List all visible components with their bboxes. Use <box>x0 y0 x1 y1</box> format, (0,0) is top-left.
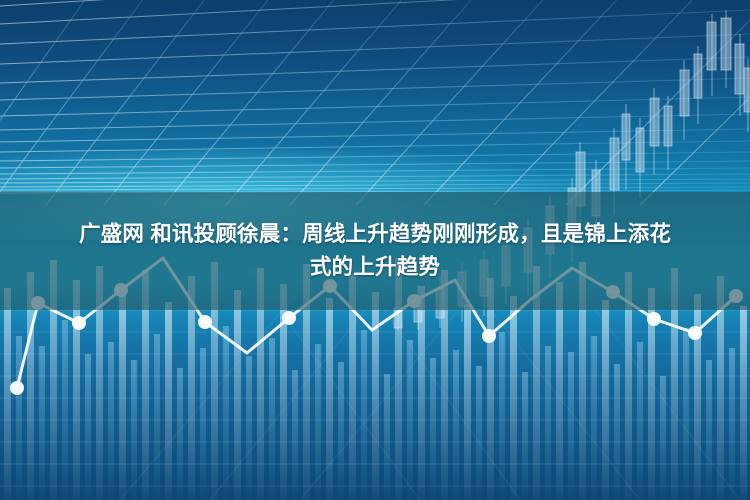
headline-line-2: 式的上升趋势 <box>310 251 440 284</box>
market-banner-image: 广盛网 和讯投顾徐晨：周线上升趋势刚刚形成，且是锦上添花 式的上升趋势 <box>0 0 750 500</box>
headline-line-1: 广盛网 和讯投顾徐晨：周线上升趋势刚刚形成，且是锦上添花 <box>79 218 671 251</box>
headline: 广盛网 和讯投顾徐晨：周线上升趋势刚刚形成，且是锦上添花 式的上升趋势 <box>0 192 750 310</box>
